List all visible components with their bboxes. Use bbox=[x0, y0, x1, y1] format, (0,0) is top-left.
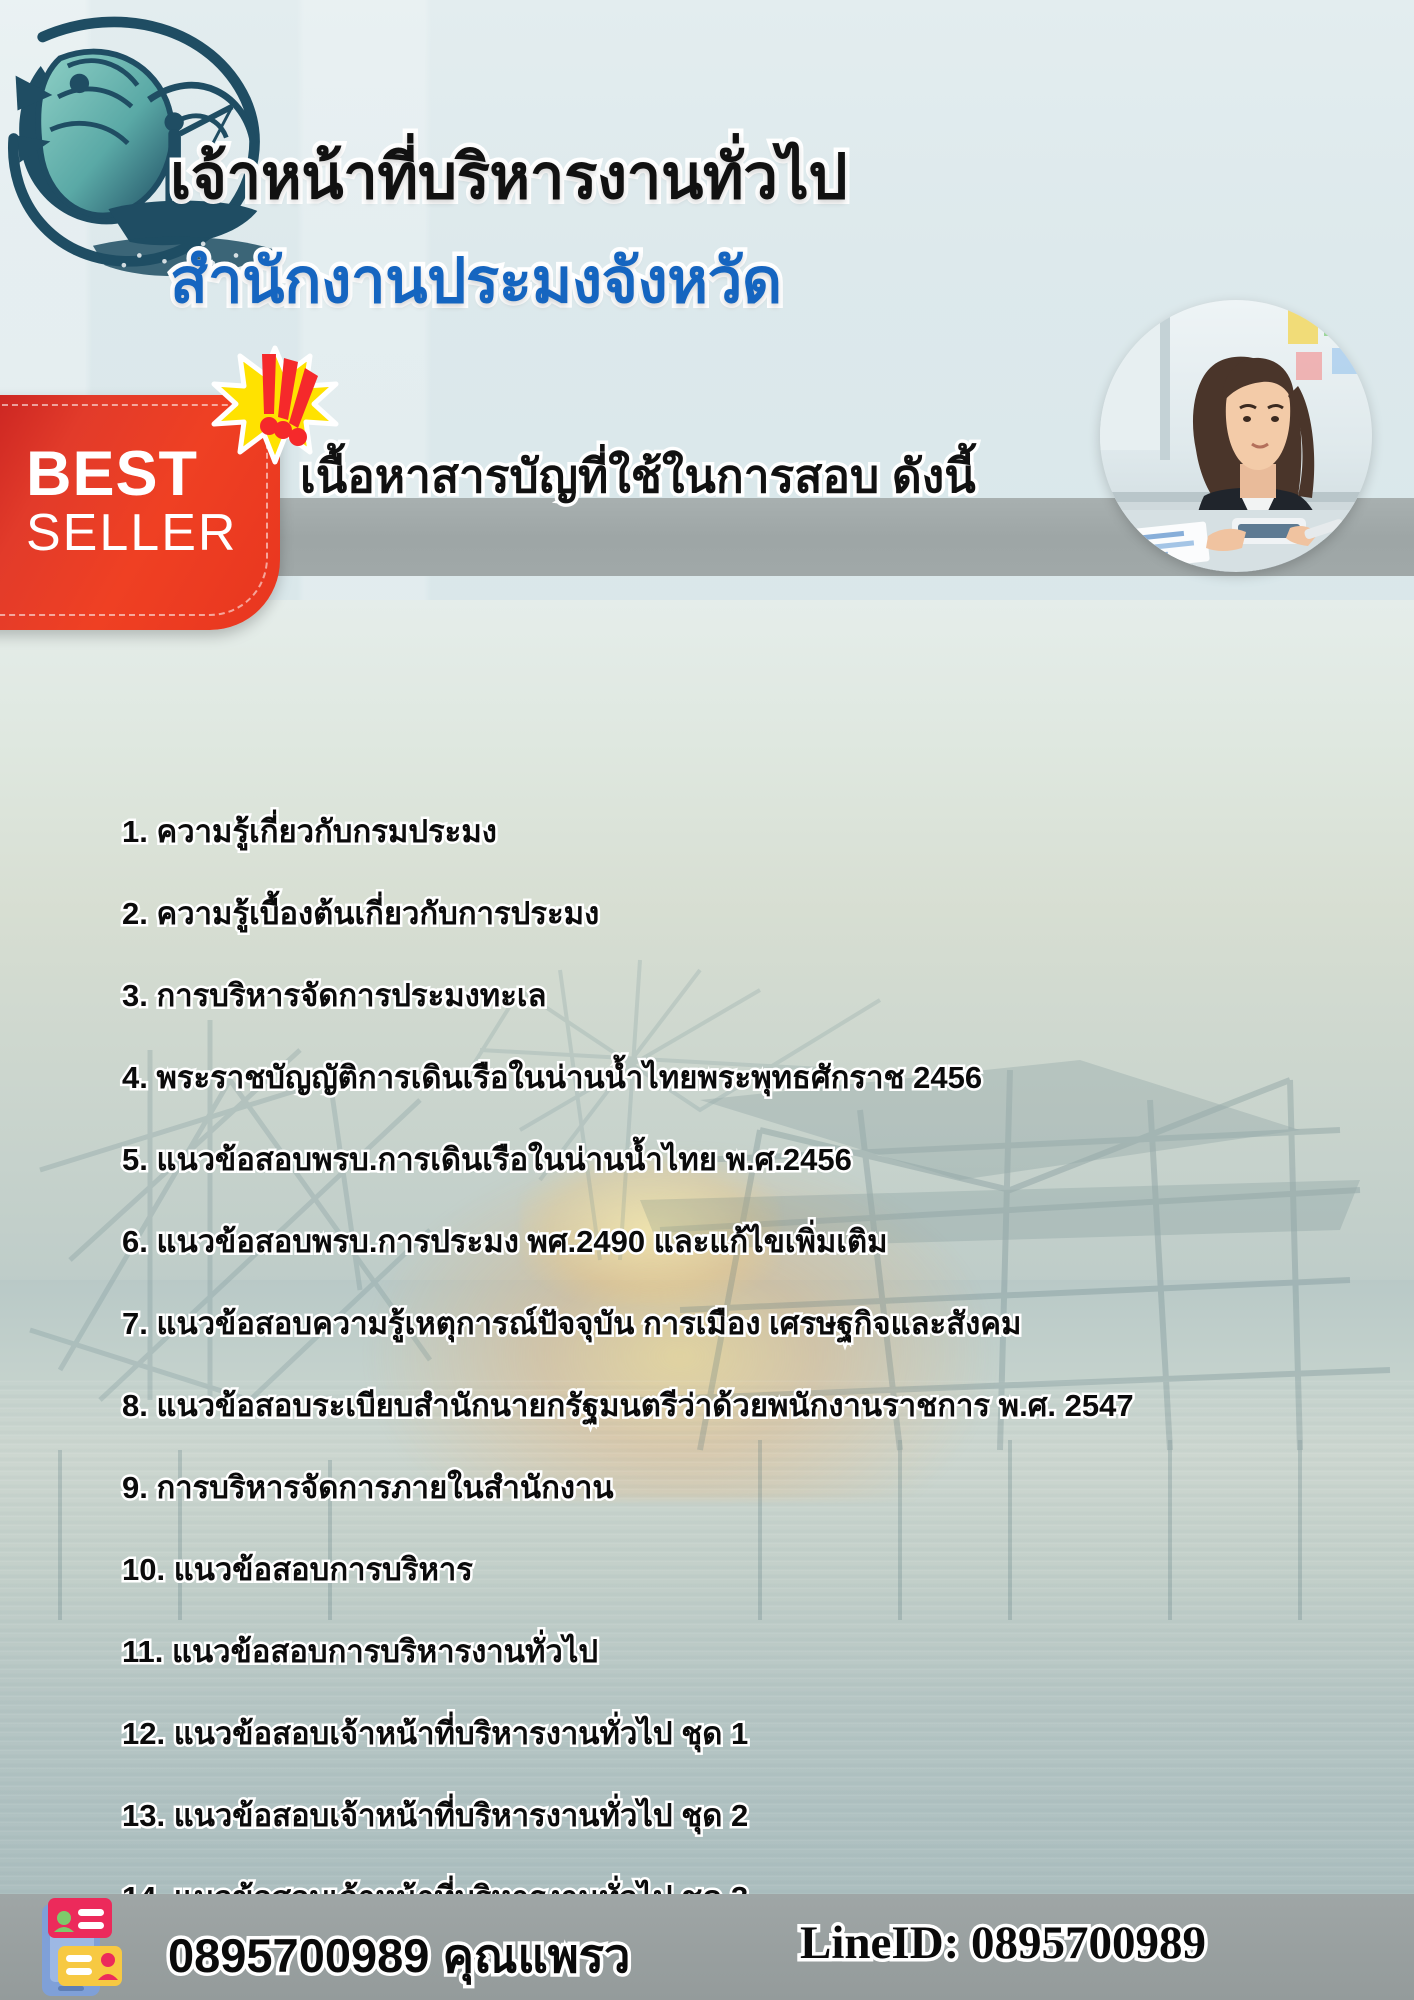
list-item: 4. พระราชบัญญัติการเดินเรือในน่านน้ำไทยพ… bbox=[0, 1052, 1414, 1102]
page-title-line1: เจ้าหน้าที่บริหารงานทั่วไป bbox=[170, 128, 847, 226]
list-item: 3. การบริหารจัดการประมงทะเล bbox=[0, 970, 1414, 1020]
badge-best-label: BEST bbox=[26, 443, 198, 506]
poster-root: เจ้าหน้าที่บริหารงานทั่วไป สำนักงานประมง… bbox=[0, 0, 1414, 2000]
list-item: 8. แนวข้อสอบระเบียบสำนักนายกรัฐมนตรีว่าด… bbox=[0, 1380, 1414, 1430]
list-item: 10. แนวข้อสอบการบริหาร bbox=[0, 1544, 1414, 1594]
list-item: 9. การบริหารจัดการภายในสำนักงาน bbox=[0, 1462, 1414, 1512]
page-title-line2: สำนักงานประมงจังหวัด bbox=[170, 232, 782, 330]
list-item: 5. แนวข้อสอบพรบ.การเดินเรือในน่านน้ำไทย … bbox=[0, 1134, 1414, 1184]
list-item: 2. ความรู้เบื้องต้นเกี่ยวกับการประมง bbox=[0, 888, 1414, 938]
contact-card-icon bbox=[28, 1898, 148, 1998]
list-item: 1. ความรู้เกี่ยวกับกรมประมง bbox=[0, 806, 1414, 856]
list-item: 12. แนวข้อสอบเจ้าหน้าที่บริหารงานทั่วไป … bbox=[0, 1708, 1414, 1758]
contents-list: 1. ความรู้เกี่ยวกับกรมประมง 2. ความรู้เบ… bbox=[0, 806, 1414, 1954]
list-item: 7. แนวข้อสอบความรู้เหตุการณ์ปัจจุบัน การ… bbox=[0, 1298, 1414, 1348]
badge-seller-label: SELLER bbox=[26, 507, 237, 559]
list-item: 11. แนวข้อสอบการบริหารงานทั่วไป bbox=[0, 1626, 1414, 1676]
banner-title: เนื้อหาสารบัญที่ใช้ในการสอบ ดังนี้ bbox=[300, 440, 976, 513]
woman-working-photo bbox=[1100, 300, 1372, 572]
footer-phone: 0895700989 คุณแพรว bbox=[168, 1918, 630, 1993]
list-item: 13. แนวข้อสอบเจ้าหน้าที่บริหารงานทั่วไป … bbox=[0, 1790, 1414, 1840]
list-item: 6. แนวข้อสอบพรบ.การประมง พศ.2490 และแก้ไ… bbox=[0, 1216, 1414, 1266]
footer-line-id: LineID: 0895700989 bbox=[800, 1916, 1206, 1970]
